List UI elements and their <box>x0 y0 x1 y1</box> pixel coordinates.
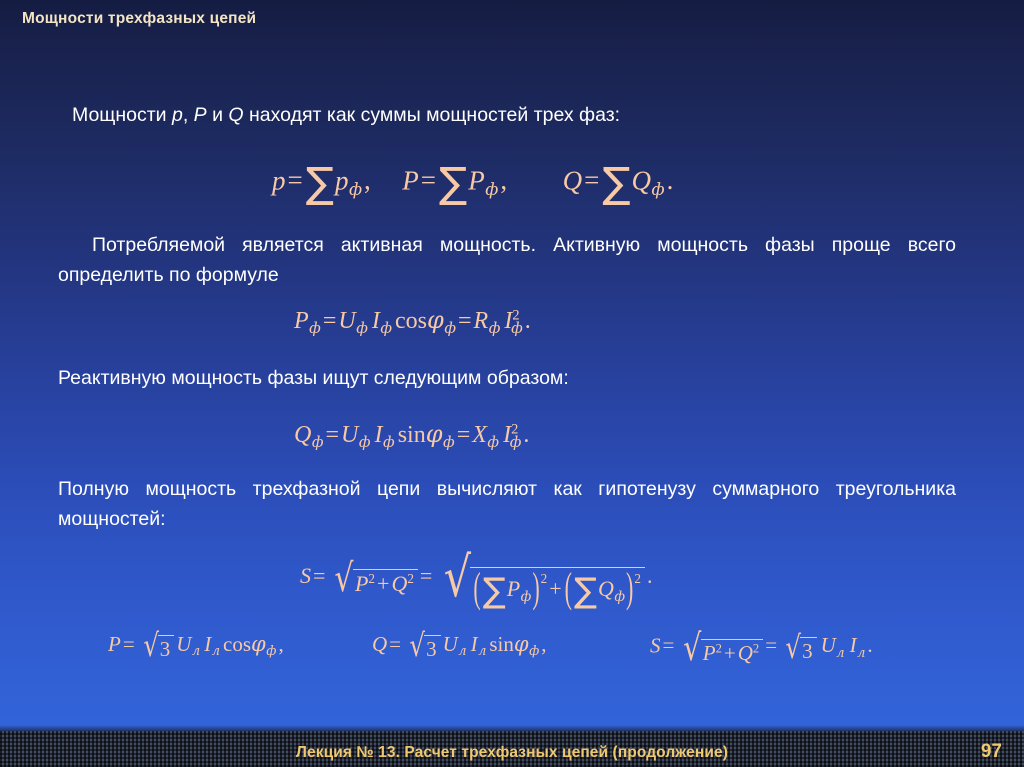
line-active-equals: = <box>121 632 137 656</box>
radical-3: √3 <box>137 628 175 664</box>
reactive-i-sub: ф <box>383 433 395 451</box>
sum-term2-trail: , <box>498 165 509 195</box>
formula-sum-powers-term-3: Q=∑Qф. <box>563 158 676 207</box>
radical-6-body: 3 <box>800 637 817 664</box>
line-apparent-q-exp: 2 <box>753 641 759 655</box>
apparent-p: P <box>355 571 368 596</box>
line-active-phi-sub: ф <box>266 644 277 659</box>
paragraph-apparent-power: Полную мощность трехфазной цепи вычисляю… <box>58 474 956 534</box>
radical-1: √P2+Q2 <box>327 556 418 601</box>
line-active-i: I <box>200 632 211 656</box>
sum-term2-rhs: P <box>468 165 485 195</box>
reactive-phi: φ <box>426 420 443 448</box>
line-reactive-three: 3 <box>426 637 437 661</box>
radical-sign-icon: √ <box>444 545 471 609</box>
line-active-cos: cos <box>220 632 251 656</box>
line-apparent-p: P <box>703 641 716 665</box>
sum-term3-equals: = <box>582 165 601 195</box>
apparent-sum-p: P <box>507 576 520 601</box>
formula-active-power: Pф=UфIфcosφф=RфI2ф. <box>294 306 533 337</box>
line-apparent-i: I <box>845 633 857 657</box>
radical-6: √3 <box>779 630 817 666</box>
apparent-equals-1: = <box>311 563 327 588</box>
paragraph-1-comma: , <box>183 104 194 126</box>
sum-term1-lhs: p <box>272 165 286 195</box>
line-apparent-p-exp: 2 <box>716 641 722 655</box>
line-reactive-u-sub: л <box>458 644 467 659</box>
line-apparent-equals-1: = <box>661 633 677 657</box>
active-lhs: P <box>294 308 309 334</box>
var-p-lower: p <box>172 104 183 126</box>
line-apparent-s: S <box>650 633 661 657</box>
line-apparent-three: 3 <box>802 639 813 663</box>
paragraph-1-tail: находят как суммы мощностей трех фаз: <box>244 104 620 126</box>
line-apparent-period: . <box>865 633 874 657</box>
line-active-three: 3 <box>160 637 171 661</box>
active-r-sub: ф <box>488 319 500 337</box>
reactive-phi-sub: ф <box>443 433 455 451</box>
reactive-i2-sub: ф <box>509 433 521 451</box>
sum-term3-rhs: Q <box>632 165 652 195</box>
sum-term2-equals: = <box>419 165 438 195</box>
active-trig: cos <box>392 308 427 334</box>
apparent-group2-exp: 2 <box>634 571 641 586</box>
reactive-x-sub: ф <box>487 433 499 451</box>
var-q: Q <box>228 104 243 126</box>
radical-5: √P2+Q2 <box>676 626 763 669</box>
paragraph-2-text: Потребляемой является активная мощность.… <box>58 234 956 286</box>
formula-apparent-power: S=√P2+Q2=√(∑Pф)2+(∑Qф)2. <box>300 545 654 611</box>
sum-term1-sub: ф <box>348 179 362 199</box>
paragraph-reactive-power: Реактивную мощность фазы ищут следующим … <box>58 363 956 393</box>
sigma-icon: ∑ <box>439 158 467 207</box>
line-active-i-sub: л <box>211 644 220 659</box>
formula-sum-powers-term-1: p=∑pф, <box>272 158 373 207</box>
active-lhs-sub: ф <box>309 319 321 337</box>
line-apparent-q: Q <box>738 641 753 665</box>
reactive-i: I <box>371 422 383 448</box>
apparent-q: Q <box>391 571 407 596</box>
radical-1-body: P2+Q2 <box>353 569 418 597</box>
reactive-x: X <box>472 422 487 448</box>
line-active-u-sub: л <box>191 644 200 659</box>
radical-sign-icon: √ <box>409 628 425 664</box>
active-i: I <box>368 308 380 334</box>
sum-term2-lhs: P <box>402 165 419 195</box>
radical-2-body: (∑Pф)2+(∑Qф)2 <box>470 567 645 611</box>
reactive-equals-1: = <box>324 422 342 448</box>
radical-3-body: 3 <box>158 635 175 662</box>
sum-term1-equals: = <box>286 165 305 195</box>
radical-4-body: 3 <box>424 635 441 662</box>
apparent-q-exp: 2 <box>407 571 414 586</box>
paragraph-active-power: Потребляемой является активная мощность.… <box>58 230 956 290</box>
sigma-icon: ∑ <box>306 158 334 207</box>
apparent-plus-2: + <box>547 576 563 601</box>
line-reactive-phi: φ <box>514 632 529 656</box>
reactive-u: U <box>341 422 358 448</box>
paren-close-1: ) <box>531 563 540 612</box>
radical-sign-icon: √ <box>785 630 801 666</box>
sum-term3-trail: . <box>665 165 676 195</box>
line-apparent-u-sub: л <box>836 646 845 661</box>
sum-term3-sub: ф <box>651 179 665 199</box>
paragraph-3-text: Реактивную мощность фазы ищут следующим … <box>58 367 569 389</box>
line-reactive-sin: sin <box>486 632 514 656</box>
line-reactive-i: I <box>467 632 478 656</box>
radical-5-body: P2+Q2 <box>701 639 763 666</box>
sum-term1-trail: , <box>362 165 373 195</box>
paragraph-1-lead: Мощности <box>72 104 172 126</box>
apparent-equals-2: = <box>418 563 434 588</box>
formula-line-apparent: S=√P2+Q2=√3UлIл. <box>650 626 875 669</box>
active-i-sub: ф <box>380 319 392 337</box>
active-i2-sub: ф <box>511 319 523 337</box>
apparent-plus-1: + <box>375 571 391 596</box>
apparent-s: S <box>300 563 311 588</box>
active-phi: φ <box>427 306 444 334</box>
radical-sign-icon: √ <box>683 626 701 669</box>
paragraph-4-text: Полную мощность трехфазной цепи вычисляю… <box>58 478 956 530</box>
line-reactive-comma: , <box>539 632 548 656</box>
paren-open-2: ( <box>564 563 573 612</box>
formula-reactive-power: Qф=UфIфsinφф=XфI2ф. <box>294 420 531 451</box>
formula-sum-powers-term-2: P=∑Pф, <box>402 158 509 207</box>
radical-2: √(∑Pф)2+(∑Qф)2 <box>434 545 645 611</box>
slide-title: Мощности трехфазных цепей <box>22 10 256 28</box>
formula-line-active: P=√3UлIлcosφф, <box>108 628 286 664</box>
paren-close-2: ) <box>625 563 634 612</box>
active-equals-1: = <box>321 308 339 334</box>
active-period: . <box>523 308 533 334</box>
reactive-period: . <box>521 422 531 448</box>
line-reactive-equals: = <box>387 632 403 656</box>
apparent-sum-q: Q <box>598 576 614 601</box>
sum-term2-sub: ф <box>485 179 499 199</box>
slide-page-number: 97 <box>981 741 1002 763</box>
formula-line-reactive: Q=√3UлIлsinφф, <box>372 628 549 664</box>
sigma-icon: ∑ <box>602 158 630 207</box>
apparent-period: . <box>645 563 655 588</box>
line-reactive-q: Q <box>372 632 387 656</box>
active-equals-2: = <box>456 308 474 334</box>
reactive-trig: sin <box>395 422 426 448</box>
radical-sign-icon: √ <box>335 556 354 601</box>
reactive-equals-2: = <box>455 422 473 448</box>
active-u-sub: ф <box>356 319 368 337</box>
active-r: R <box>474 308 489 334</box>
line-reactive-u: U <box>441 632 458 656</box>
reactive-u-sub: ф <box>358 433 370 451</box>
line-active-p: P <box>108 632 121 656</box>
active-u: U <box>338 308 355 334</box>
paren-open-1: ( <box>472 563 481 612</box>
footer-lecture-label: Лекция № 13. Расчет трехфазных цепей (пр… <box>0 744 1024 762</box>
line-apparent-plus: + <box>722 641 738 665</box>
active-phi-sub: ф <box>444 319 456 337</box>
reactive-lhs-sub: ф <box>311 433 323 451</box>
line-active-u: U <box>174 632 191 656</box>
sum-term1-rhs: p <box>335 165 349 195</box>
var-p-upper: P <box>194 104 207 126</box>
reactive-lhs: Q <box>294 422 311 448</box>
paragraph-1-conj: и <box>207 104 229 126</box>
line-reactive-phi-sub: ф <box>529 644 540 659</box>
sum-term3-lhs: Q <box>563 165 583 195</box>
line-active-comma: , <box>276 632 285 656</box>
apparent-sum-q-sub: ф <box>614 589 625 605</box>
sigma-icon: ∑ <box>574 571 597 611</box>
radical-4: √3 <box>403 628 441 664</box>
radical-sign-icon: √ <box>143 628 159 664</box>
line-apparent-equals-2: = <box>763 633 779 657</box>
presentation-slide: Мощности трехфазных цепей Мощности p, P … <box>0 0 1024 767</box>
formula-sum-powers: p=∑pф, P=∑Pф, Q=∑Qф. <box>272 158 675 207</box>
paragraph-sum-intro: Мощности p, P и Q находят как суммы мощн… <box>72 100 952 130</box>
apparent-sum-p-sub: ф <box>520 589 531 605</box>
sigma-icon: ∑ <box>483 571 506 611</box>
line-apparent-u: U <box>817 633 836 657</box>
line-active-phi: φ <box>251 632 266 656</box>
